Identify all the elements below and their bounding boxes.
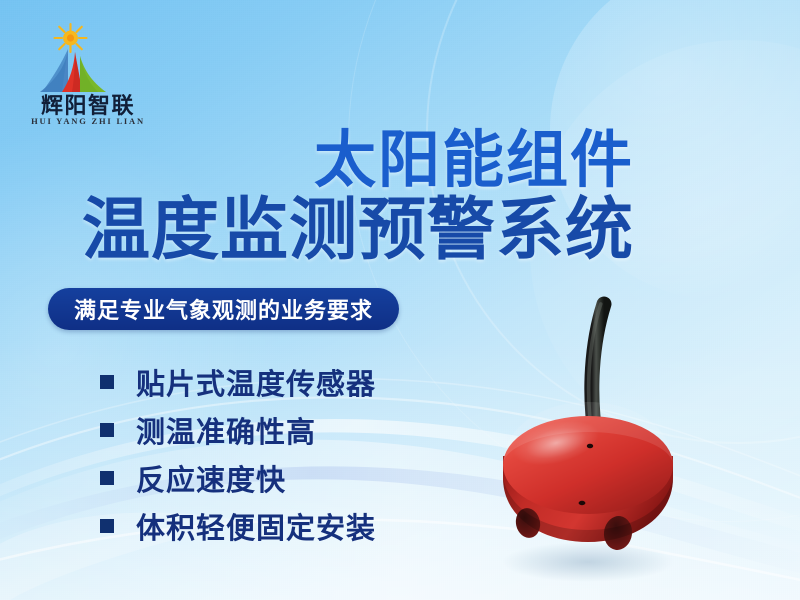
feature-label: 测温准确性高 [136, 409, 316, 451]
list-item: 贴片式温度传感器 [100, 358, 500, 406]
list-item: 体积轻便固定安装 [100, 502, 500, 550]
bullet-square-icon [100, 375, 114, 389]
tagline-badge: 满足专业气象观测的业务要求 [48, 288, 399, 330]
sun-icon [55, 24, 87, 52]
feature-label: 体积轻便固定安装 [136, 505, 376, 547]
list-item: 测温准确性高 [100, 406, 500, 454]
headline-line-2: 温度监测预警系统 [0, 193, 634, 268]
company-logo: 辉阳智联 HUI YANG ZHI LIAN [18, 16, 158, 128]
product-banner: 辉阳智联 HUI YANG ZHI LIAN 太阳能组件 温度监测预警系统 满足… [0, 0, 800, 600]
logo-wordmark-pinyin: HUI YANG ZHI LIAN [31, 116, 145, 126]
sensor-vent-hole-top [587, 444, 593, 449]
sensor-vent-hole-front [579, 501, 586, 505]
logo-wordmark-cn: 辉阳智联 [41, 93, 135, 118]
bullet-square-icon [100, 471, 114, 485]
product-shadow [502, 542, 674, 582]
product-image [470, 280, 770, 590]
bullet-square-icon [100, 423, 114, 437]
bullet-square-icon [100, 519, 114, 533]
feature-label: 反应速度快 [136, 457, 286, 499]
feature-label: 贴片式温度传感器 [136, 361, 376, 403]
headline-block: 太阳能组件 温度监测预警系统 [0, 128, 720, 268]
feature-list: 贴片式温度传感器 测温准确性高 反应速度快 体积轻便固定安装 [100, 358, 500, 550]
list-item: 反应速度快 [100, 454, 500, 502]
headline-line-1: 太阳能组件 [0, 128, 634, 195]
